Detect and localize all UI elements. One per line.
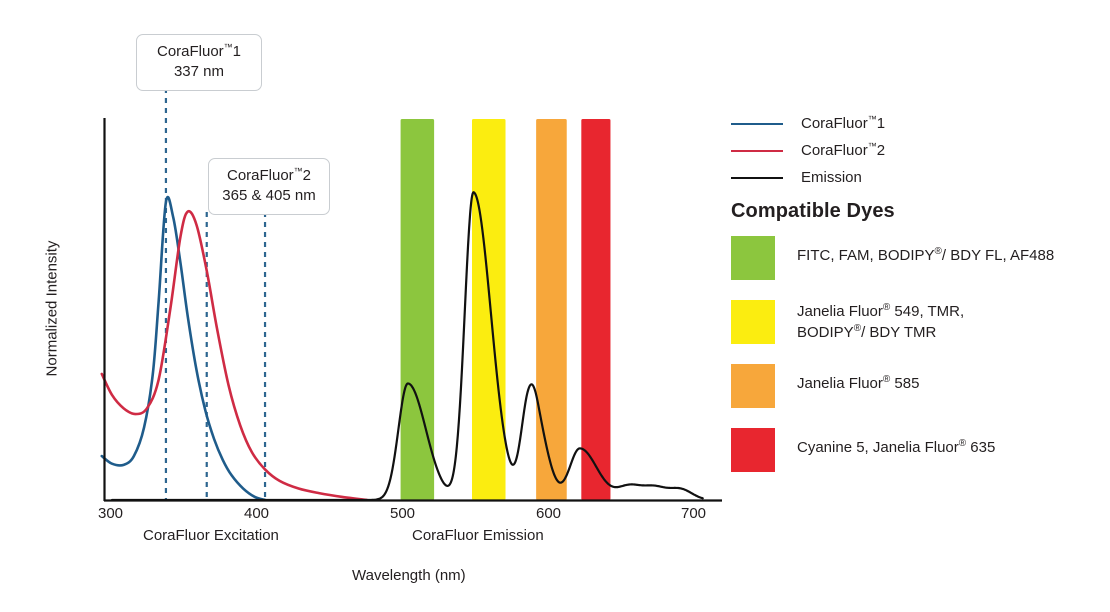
annotation-cf2-title: CoraFluor™2 xyxy=(221,166,317,186)
dye-band-3 xyxy=(581,119,610,500)
legend-item-1: CoraFluor™2 xyxy=(731,137,1101,164)
annotation-cf1-value: 337 nm xyxy=(149,62,249,82)
x-tick-600: 600 xyxy=(536,505,561,522)
dye-label-line: Janelia Fluor® 585 xyxy=(797,374,919,395)
legend-item-0: CoraFluor™1 xyxy=(731,110,1101,137)
legend-item-2: Emission xyxy=(731,164,1101,191)
legend-line-swatch-icon xyxy=(731,177,783,179)
series-legend: CoraFluor™1CoraFluor™2Emission xyxy=(731,110,1101,191)
dye-label-line: Cyanine 5, Janelia Fluor® 635 xyxy=(797,438,995,459)
dye-label-line: FITC, FAM, BODIPY®/ BDY FL, AF488 xyxy=(797,246,1054,267)
emission-region-label: CoraFluor Emission xyxy=(412,527,544,544)
x-tick-700: 700 xyxy=(681,505,706,522)
compatible-dyes-list: FITC, FAM, BODIPY®/ BDY FL, AF488Janelia… xyxy=(731,236,1103,492)
dye-list-item-0: FITC, FAM, BODIPY®/ BDY FL, AF488 xyxy=(731,236,1103,280)
legend-line-swatch-icon xyxy=(731,150,783,152)
x-tick-500: 500 xyxy=(390,505,415,522)
dye-color-swatch xyxy=(731,236,775,280)
excitation-region-label: CoraFluor Excitation xyxy=(143,527,279,544)
dye-label: FITC, FAM, BODIPY®/ BDY FL, AF488 xyxy=(797,236,1054,267)
dye-list-item-1: Janelia Fluor® 549, TMR,BODIPY®/ BDY TMR xyxy=(731,300,1103,344)
dye-label: Janelia Fluor® 585 xyxy=(797,364,919,395)
legend-item-label: Emission xyxy=(801,169,862,186)
dye-color-swatch xyxy=(731,300,775,344)
curve-corafluor2 xyxy=(102,211,367,500)
x-tick-400: 400 xyxy=(244,505,269,522)
y-axis-title: Normalized Intensity xyxy=(44,224,61,394)
dye-label: Janelia Fluor® 549, TMR,BODIPY®/ BDY TMR xyxy=(797,300,964,343)
dye-color-swatch xyxy=(731,364,775,408)
annotation-corafluor1: CoraFluor™1 337 nm xyxy=(136,34,262,91)
excitation-marker-lines xyxy=(166,88,265,500)
dye-label: Cyanine 5, Janelia Fluor® 635 xyxy=(797,428,995,459)
dye-list-item-3: Cyanine 5, Janelia Fluor® 635 xyxy=(731,428,1103,472)
x-tick-300: 300 xyxy=(98,505,123,522)
dye-band-2 xyxy=(536,119,567,500)
annotation-corafluor2: CoraFluor™2 365 & 405 nm xyxy=(208,158,330,215)
spectra-figure: CoraFluor™1 337 nm CoraFluor™2 365 & 405… xyxy=(0,0,1110,612)
dye-color-swatch xyxy=(731,428,775,472)
dye-list-item-2: Janelia Fluor® 585 xyxy=(731,364,1103,408)
legend-line-swatch-icon xyxy=(731,123,783,125)
legend-item-label: CoraFluor™2 xyxy=(801,142,885,159)
annotation-cf2-value: 365 & 405 nm xyxy=(221,186,317,206)
dye-band-1 xyxy=(472,119,506,500)
compatible-dyes-title: Compatible Dyes xyxy=(731,200,895,223)
annotation-cf1-title: CoraFluor™1 xyxy=(149,42,249,62)
curve-corafluor1 xyxy=(102,197,265,500)
legend-item-label: CoraFluor™1 xyxy=(801,115,885,132)
x-axis-title: Wavelength (nm) xyxy=(352,567,466,584)
dye-label-line: BODIPY®/ BDY TMR xyxy=(797,323,964,344)
dye-label-line: Janelia Fluor® 549, TMR, xyxy=(797,302,964,323)
